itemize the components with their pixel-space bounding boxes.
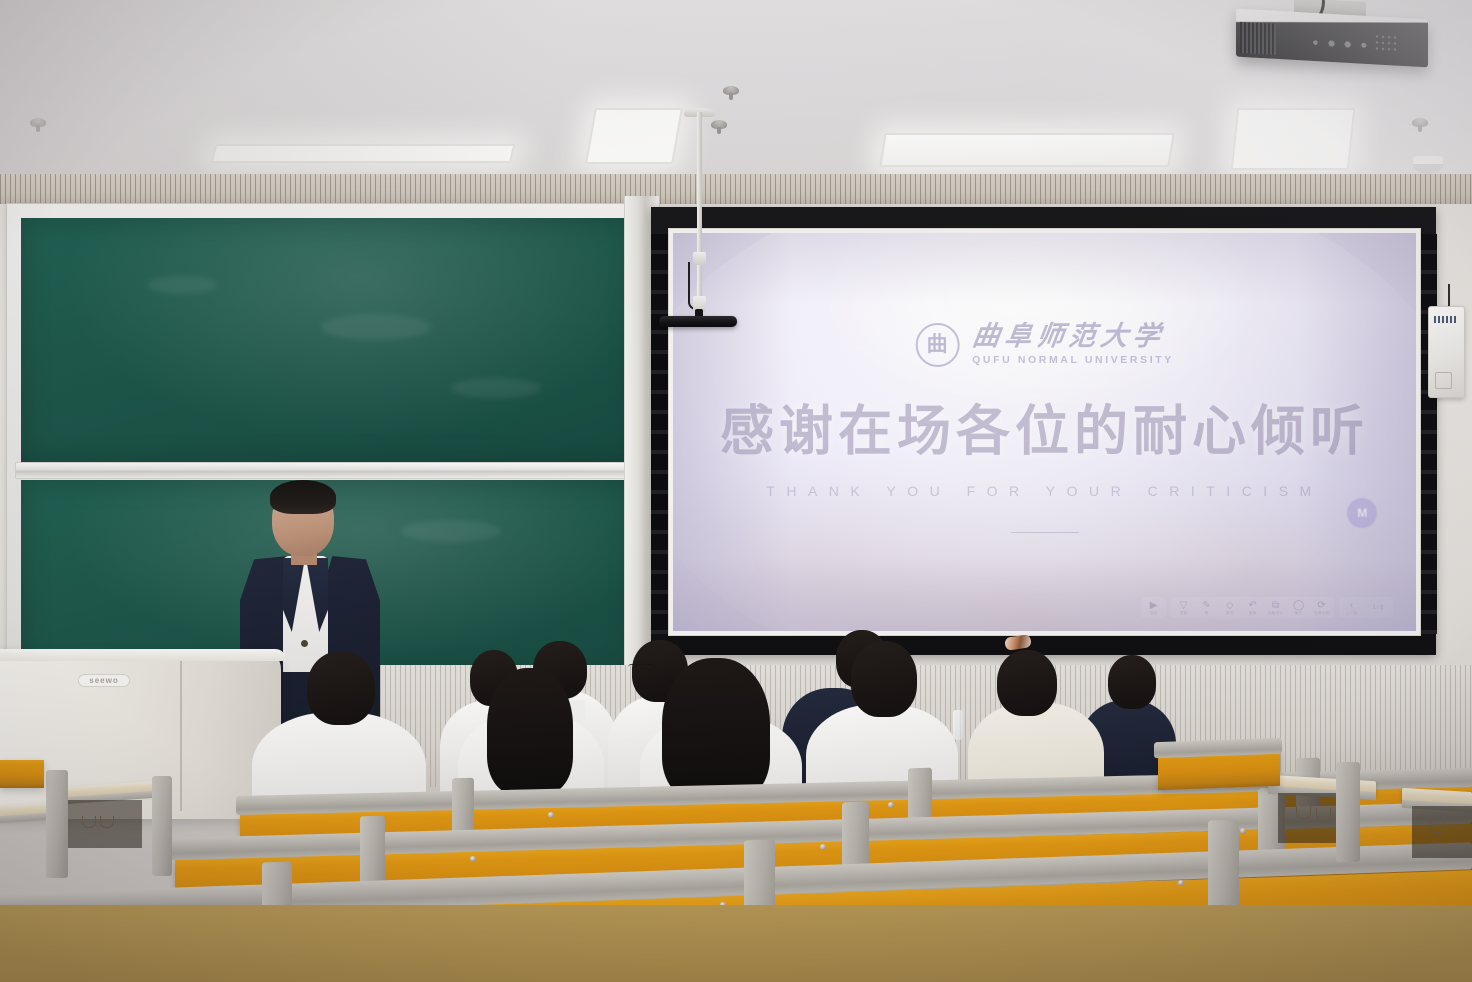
projection-screen[interactable]: 曲 曲阜师范大学 QUFU NORMAL UNIVERSITY 感谢在场各位的耐… xyxy=(673,233,1416,631)
bag-hook-icon xyxy=(1430,820,1445,833)
glasses-icon xyxy=(628,664,654,670)
bench-screw xyxy=(1240,828,1246,834)
desk-leg xyxy=(46,770,68,878)
bench-post xyxy=(452,778,474,836)
interactive-sensor-bar xyxy=(659,316,737,327)
bench-screw xyxy=(548,812,554,818)
ceiling-shading xyxy=(0,0,1472,182)
status-leds xyxy=(1434,316,1456,323)
desk-leg xyxy=(1336,762,1360,862)
bag-hook-icon xyxy=(100,816,114,828)
bench-screw xyxy=(888,802,894,808)
podium-worktop xyxy=(0,649,287,661)
student-head xyxy=(1108,655,1156,709)
desk-leg xyxy=(152,776,172,876)
floor xyxy=(0,905,1472,982)
bench-screw xyxy=(470,856,476,862)
bench-backrest xyxy=(0,760,44,788)
student-hair xyxy=(662,658,770,800)
student-head xyxy=(851,641,917,717)
podium-panel-seam xyxy=(180,655,182,811)
bag-hook-icon xyxy=(1316,808,1331,821)
bench-screw xyxy=(820,844,826,850)
student-hair xyxy=(487,668,573,794)
podium-brand-badge: seewo xyxy=(78,674,130,687)
sensor-drop-rod xyxy=(697,112,702,317)
blackboard-center-rail xyxy=(15,462,644,479)
wall-control-panel[interactable] xyxy=(1428,306,1465,398)
bag-hook-icon xyxy=(1296,806,1311,819)
presenter-hair xyxy=(270,480,336,514)
bench-post xyxy=(360,816,385,887)
student-head xyxy=(997,650,1057,716)
bag-hook-icon xyxy=(82,816,96,828)
panel-button[interactable] xyxy=(1435,372,1452,389)
screen-mechanism-left xyxy=(651,234,669,634)
water-bottle xyxy=(953,710,963,740)
screen-vignette xyxy=(673,233,1416,631)
lecture-hall-photo: 曲 曲阜师范大学 QUFU NORMAL UNIVERSITY 感谢在场各位的耐… xyxy=(0,0,1472,982)
presenter-jacket-button xyxy=(301,640,308,647)
bench-screw xyxy=(1178,880,1184,886)
blackboard-upper-panel xyxy=(21,218,638,464)
screen-mechanism-right xyxy=(1419,234,1437,634)
student-head xyxy=(307,651,375,725)
